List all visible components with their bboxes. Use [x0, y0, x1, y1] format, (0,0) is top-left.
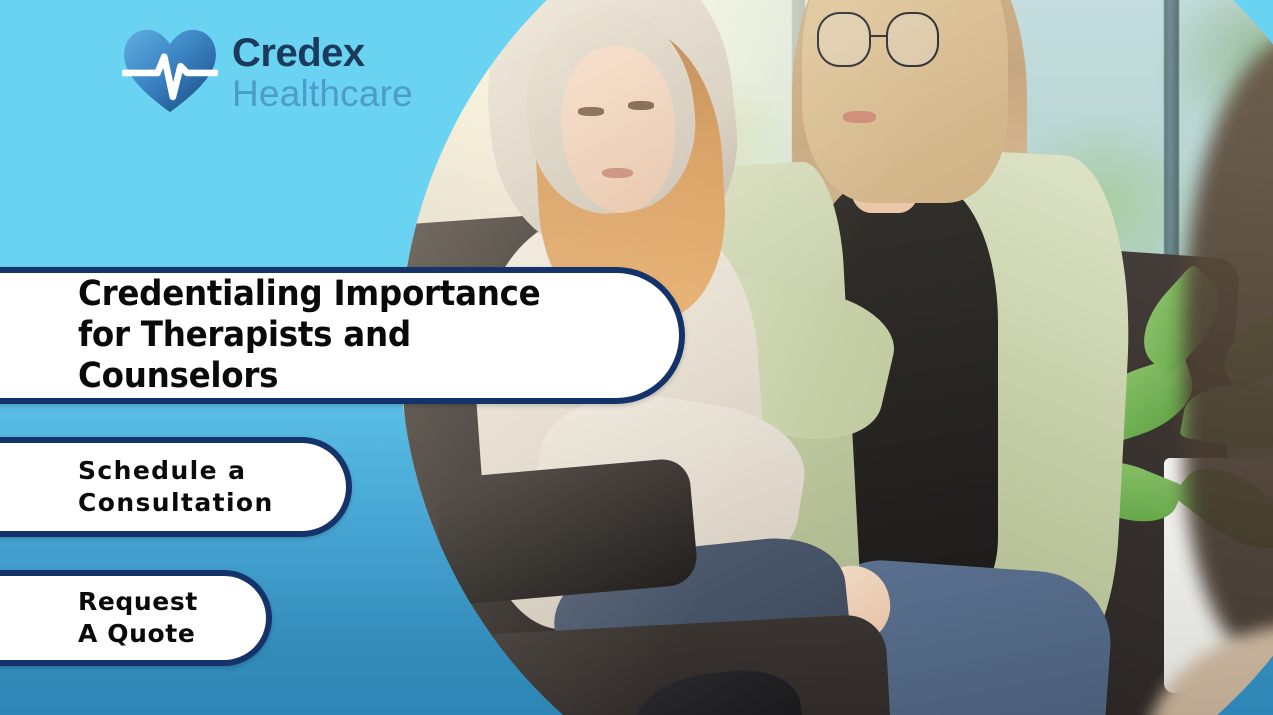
cta-line-2: A Quote: [78, 619, 195, 648]
cta-line-1: Schedule a: [78, 456, 246, 485]
brand-name-primary: Credex: [232, 33, 413, 73]
page-title: Credentialing Importance for Therapists …: [78, 274, 600, 398]
request-quote-label: Request A Quote: [78, 586, 198, 650]
schedule-consultation-button[interactable]: Schedule a Consultation: [0, 437, 352, 537]
headline-pill: Credentialing Importance for Therapists …: [0, 267, 685, 404]
heart-ekg-icon: [122, 28, 218, 116]
schedule-consultation-label: Schedule a Consultation: [78, 455, 274, 519]
client-eye-right: [628, 101, 653, 110]
cta-line-1: Request: [78, 587, 198, 616]
promotional-banner: Credex Healthcare Credentialing Importan…: [0, 0, 1273, 715]
eyeglasses-icon: [817, 12, 939, 67]
client-eye-left: [578, 107, 603, 116]
therapist-mouth: [843, 111, 876, 123]
request-quote-button[interactable]: Request A Quote: [0, 570, 272, 666]
eyeglass-lens-left: [817, 12, 870, 67]
cta-line-2: Consultation: [78, 488, 274, 517]
brand-wordmark: Credex Healthcare: [232, 33, 413, 112]
brand-name-secondary: Healthcare: [232, 75, 413, 112]
client-mouth: [602, 168, 633, 179]
eyeglass-lens-right: [886, 12, 939, 67]
eyeglass-bridge: [871, 35, 886, 38]
brand-logo[interactable]: Credex Healthcare: [122, 28, 413, 116]
office-chair-arm: [434, 457, 699, 606]
